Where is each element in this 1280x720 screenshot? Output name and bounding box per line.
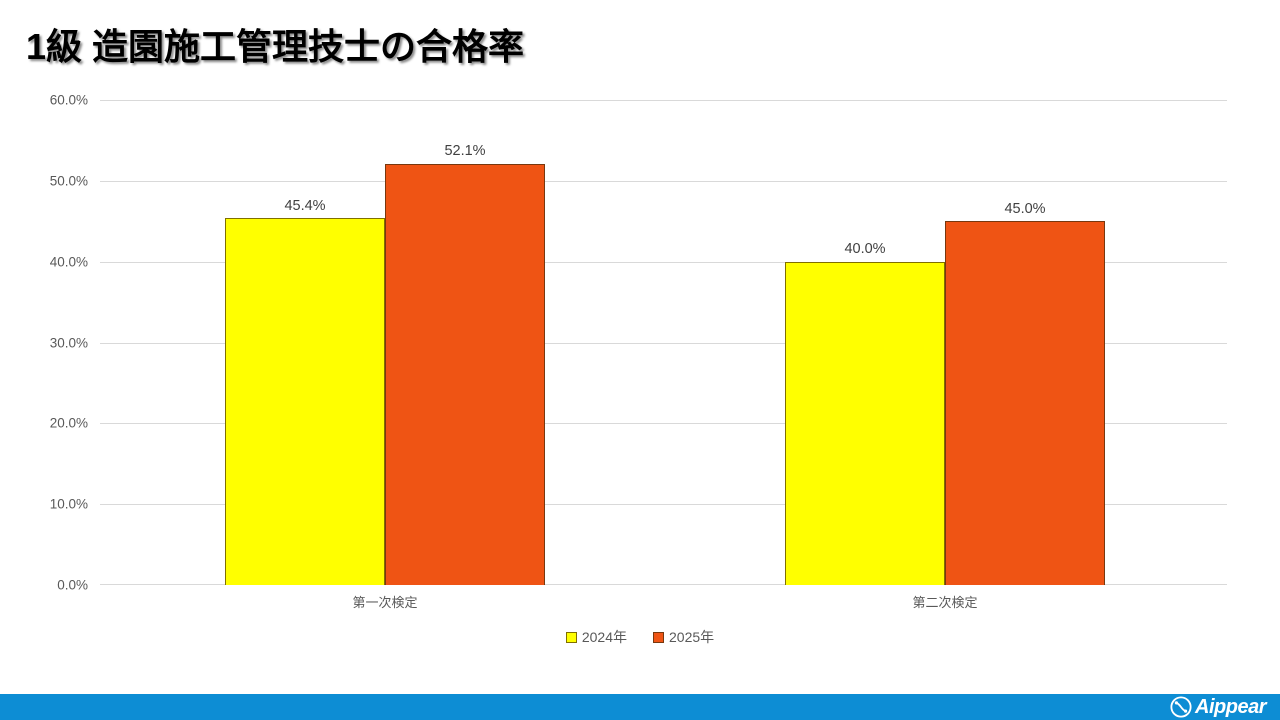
x-axis-category-second: 第二次検定	[912, 592, 977, 611]
legend-swatch-2024-icon	[566, 632, 577, 643]
y-axis-tick-label: 40.0%	[0, 254, 88, 269]
brand-logo: Aippear	[1170, 694, 1266, 720]
plot-area	[100, 100, 1227, 585]
bar-2025-second[interactable]	[945, 221, 1105, 585]
bar-2024-second[interactable]	[785, 262, 945, 585]
y-axis-tick-label: 30.0%	[0, 335, 88, 350]
x-axis-category-first: 第一次検定	[352, 592, 417, 611]
legend-label-2025: 2025年	[669, 627, 714, 647]
brand-logo-text: Aippear	[1195, 697, 1266, 717]
legend-item-2025[interactable]: 2025年	[653, 627, 714, 647]
y-axis-tick-label: 50.0%	[0, 173, 88, 188]
y-axis-tick-label: 60.0%	[0, 93, 88, 108]
y-axis-tick-label: 20.0%	[0, 416, 88, 431]
y-axis-tick-label: 0.0%	[0, 578, 88, 593]
data-label-2025-first: 52.1%	[444, 143, 485, 159]
legend-item-2024[interactable]: 2024年	[566, 627, 627, 647]
footer-bar	[0, 694, 1280, 720]
bar-2024-first[interactable]	[225, 218, 385, 585]
bar-chart: 0.0% 10.0% 20.0% 30.0% 40.0% 50.0% 60.0%…	[0, 0, 1280, 660]
data-label-2024-second: 40.0%	[844, 241, 885, 257]
slide-canvas: 1級 造園施工管理技士の合格率 0.0% 10.0% 20.0% 30.0% 4…	[0, 0, 1280, 720]
aippear-swirl-icon	[1170, 696, 1192, 718]
chart-legend: 2024年 2025年	[0, 627, 1280, 647]
bar-2025-first[interactable]	[385, 164, 545, 585]
legend-swatch-2025-icon	[653, 632, 664, 643]
data-label-2025-second: 45.0%	[1004, 201, 1045, 217]
gridline-50	[100, 181, 1227, 182]
data-label-2024-first: 45.4%	[284, 198, 325, 214]
gridline-60	[100, 100, 1227, 101]
y-axis-tick-label: 10.0%	[0, 497, 88, 512]
legend-label-2024: 2024年	[582, 627, 627, 647]
